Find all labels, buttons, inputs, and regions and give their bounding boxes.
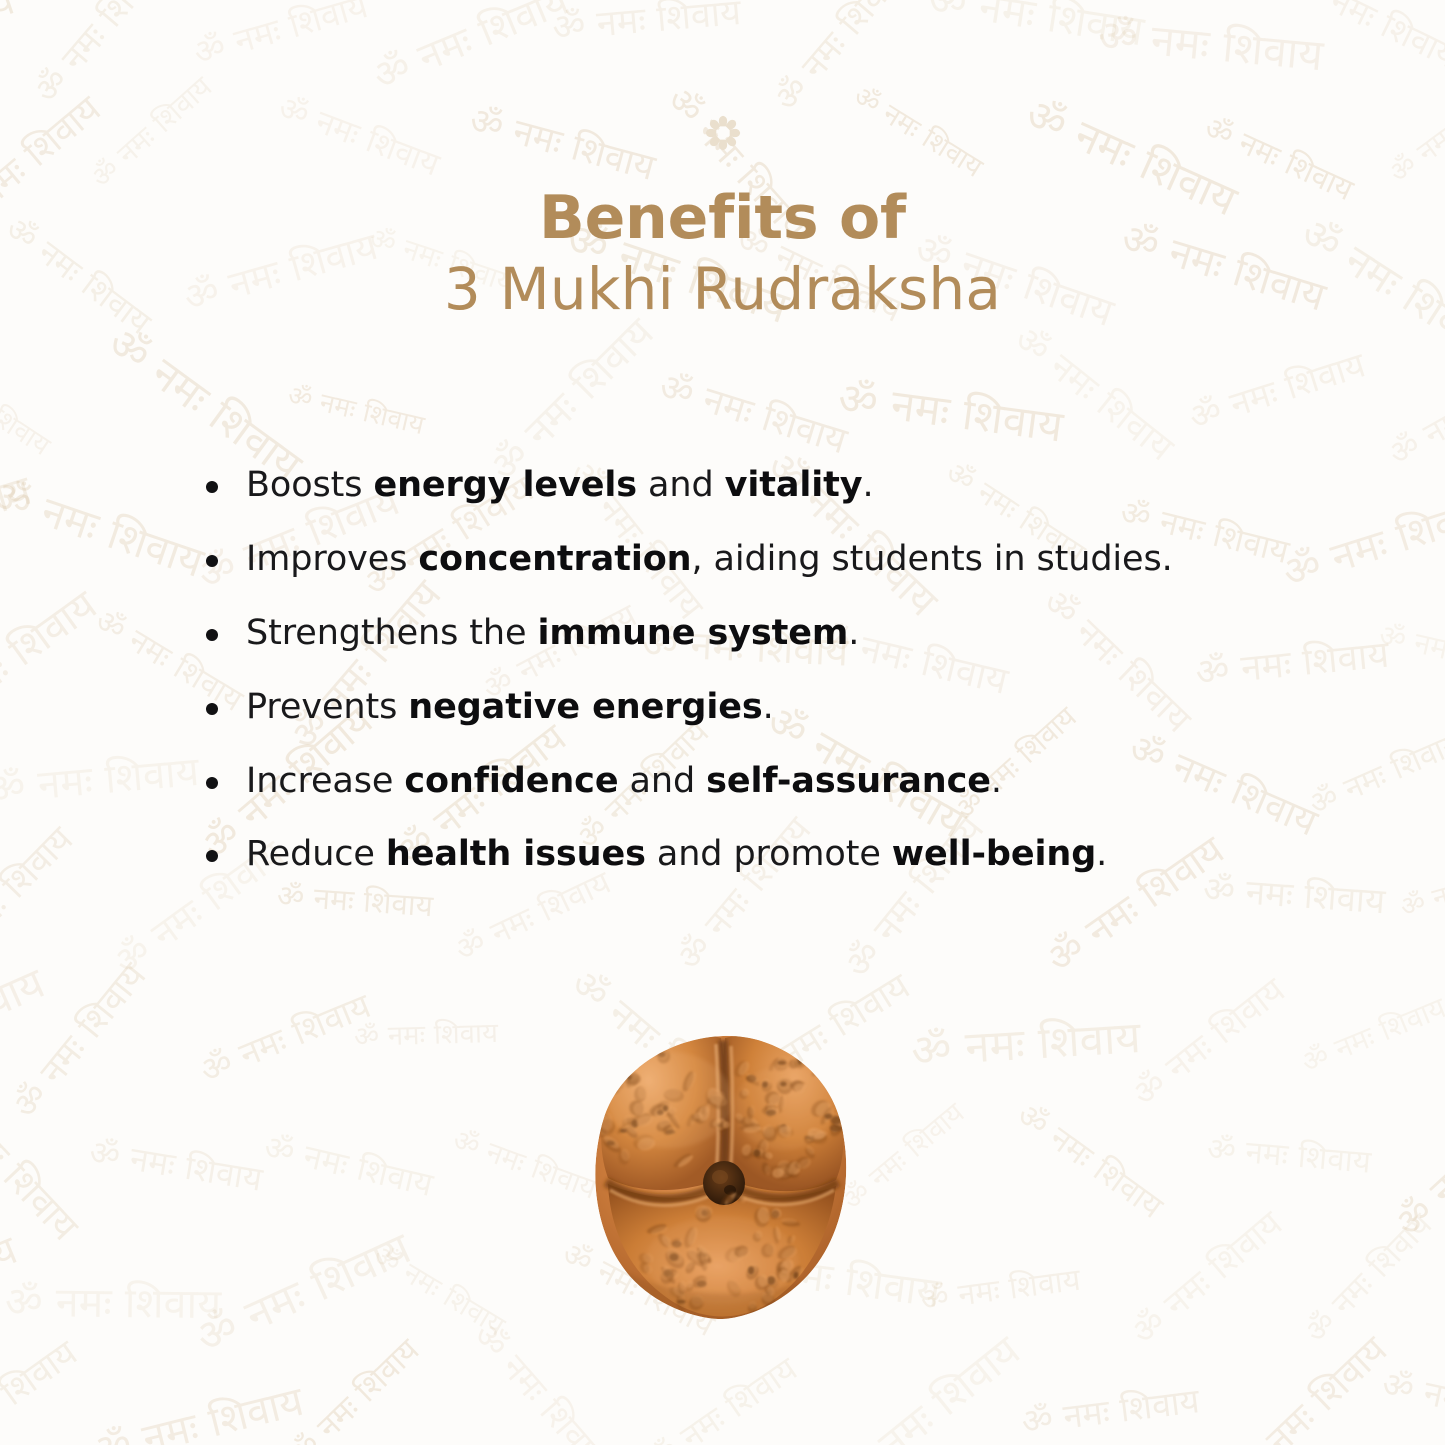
- bullet-dot-icon: [206, 777, 218, 789]
- bullet-dot-icon: [206, 703, 218, 715]
- bullet-dot-icon: [206, 481, 218, 493]
- flower-rosette-icon: [690, 100, 756, 166]
- page-title-block: Benefits of 3 Mukhi Rudraksha: [0, 186, 1445, 323]
- list-item: Strengthens the immune system.: [196, 610, 1365, 657]
- list-item-text: Strengthens the immune system.: [246, 613, 859, 653]
- bullet-dot-icon: [206, 629, 218, 641]
- bullet-dot-icon: [206, 555, 218, 567]
- list-item-text: Reduce health issues and promote well-be…: [246, 834, 1107, 874]
- ornament-container: [0, 100, 1445, 166]
- list-item-text: Boosts energy levels and vitality.: [246, 465, 874, 505]
- bullet-dot-icon: [206, 850, 218, 862]
- benefits-list: Boosts energy levels and vitality.Improv…: [196, 462, 1365, 878]
- list-item-text: Improves concentration, aiding students …: [246, 539, 1173, 579]
- list-item-text: Increase confidence and self-assurance.: [246, 761, 1002, 801]
- rudraksha-bead-icon: [578, 1028, 868, 1324]
- list-item: Reduce health issues and promote well-be…: [196, 831, 1365, 878]
- product-image-container: [0, 1028, 1445, 1324]
- list-item: Boosts energy levels and vitality.: [196, 462, 1365, 509]
- rudraksha-bead-figure: [578, 1028, 868, 1324]
- list-item: Prevents negative energies.: [196, 684, 1365, 731]
- list-item: Improves concentration, aiding students …: [196, 536, 1365, 583]
- page-subtitle: 3 Mukhi Rudraksha: [0, 255, 1445, 323]
- list-item-text: Prevents negative energies.: [246, 687, 774, 727]
- page-title: Benefits of: [0, 186, 1445, 251]
- benefits-poster: Benefits of 3 Mukhi Rudraksha Boosts ene…: [0, 0, 1445, 1445]
- list-item: Increase confidence and self-assurance.: [196, 758, 1365, 805]
